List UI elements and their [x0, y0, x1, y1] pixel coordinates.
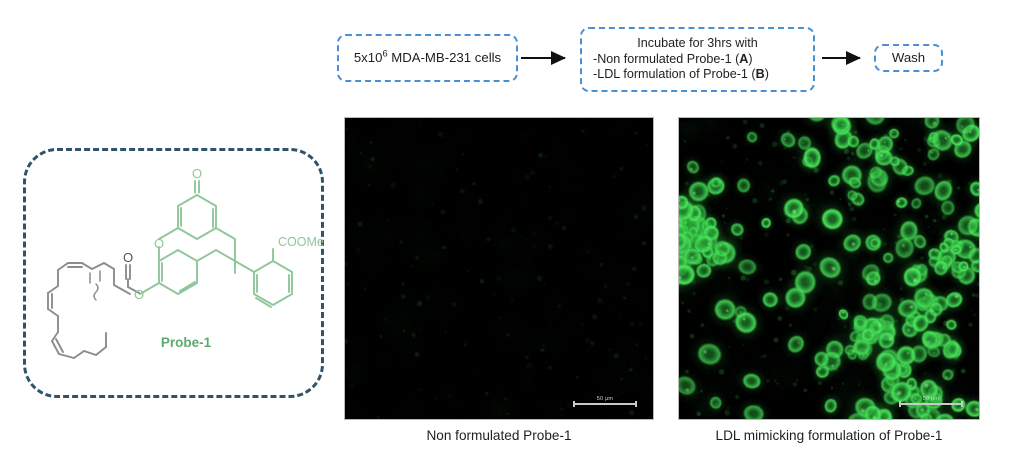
incubate-line-2-text: -Non formulated Probe-1 (: [593, 52, 739, 66]
arrow-incubate-to-wash: [822, 57, 860, 59]
flow-box-incubate: Incubate for 3hrs with -Non formulated P…: [580, 27, 815, 92]
ketone-oxygen-label: O: [192, 166, 202, 181]
ether-oxygen-label: O: [154, 236, 164, 251]
experiment-flowchart: 5x106 MDA-MB-231 cells Incubate for 3hrs…: [0, 0, 1010, 110]
micrograph-panel-b: 50 µm: [678, 117, 980, 420]
micrograph-caption-b: LDL mimicking formulation of Probe-1: [678, 428, 980, 443]
methyl-ester-label: COOMe: [278, 235, 324, 249]
incubate-line-3-close: ): [765, 67, 769, 81]
flow-box-wash: Wash: [874, 44, 943, 72]
figure-root: 5x106 MDA-MB-231 cells Incubate for 3hrs…: [0, 0, 1010, 466]
polyunsaturated-acyl-chain: [48, 263, 130, 358]
arrow-cells-to-incubate: [521, 57, 565, 59]
incubate-line-1: Incubate for 3hrs with: [637, 36, 757, 51]
micrograph-canvas-b: [679, 118, 979, 419]
ester-linking-oxygen-label: O: [134, 287, 144, 302]
micrograph-canvas-a: [345, 118, 653, 419]
micrograph-panel-a: 50 µm: [344, 117, 654, 420]
micrograph-caption-a: Non formulated Probe-1: [344, 428, 654, 443]
ester-carbonyl-oxygen-label: O: [123, 250, 133, 265]
probe-compound-label: Probe-1: [161, 335, 212, 350]
probe-structure-drawing: O O O O COOMe Probe-1: [26, 151, 327, 401]
flow-box-cells: 5x106 MDA-MB-231 cells: [337, 34, 518, 82]
incubate-line-3-text: -LDL formulation of Probe-1 (: [593, 67, 756, 81]
incubate-line-2-close: ): [748, 52, 752, 66]
condition-label-b: B: [756, 67, 765, 81]
cells-line-name: MDA-MB-231 cells: [388, 50, 502, 65]
probe-structure-panel: O O O O COOMe Probe-1: [23, 148, 324, 398]
wash-label: Wash: [892, 50, 925, 66]
cells-count-prefix: 5x10: [354, 50, 383, 65]
incubate-line-3: -LDL formulation of Probe-1 (B): [586, 67, 769, 82]
incubate-line-2: -Non formulated Probe-1 (A): [586, 52, 753, 67]
flow-box-cells-text: 5x106 MDA-MB-231 cells: [354, 50, 501, 66]
